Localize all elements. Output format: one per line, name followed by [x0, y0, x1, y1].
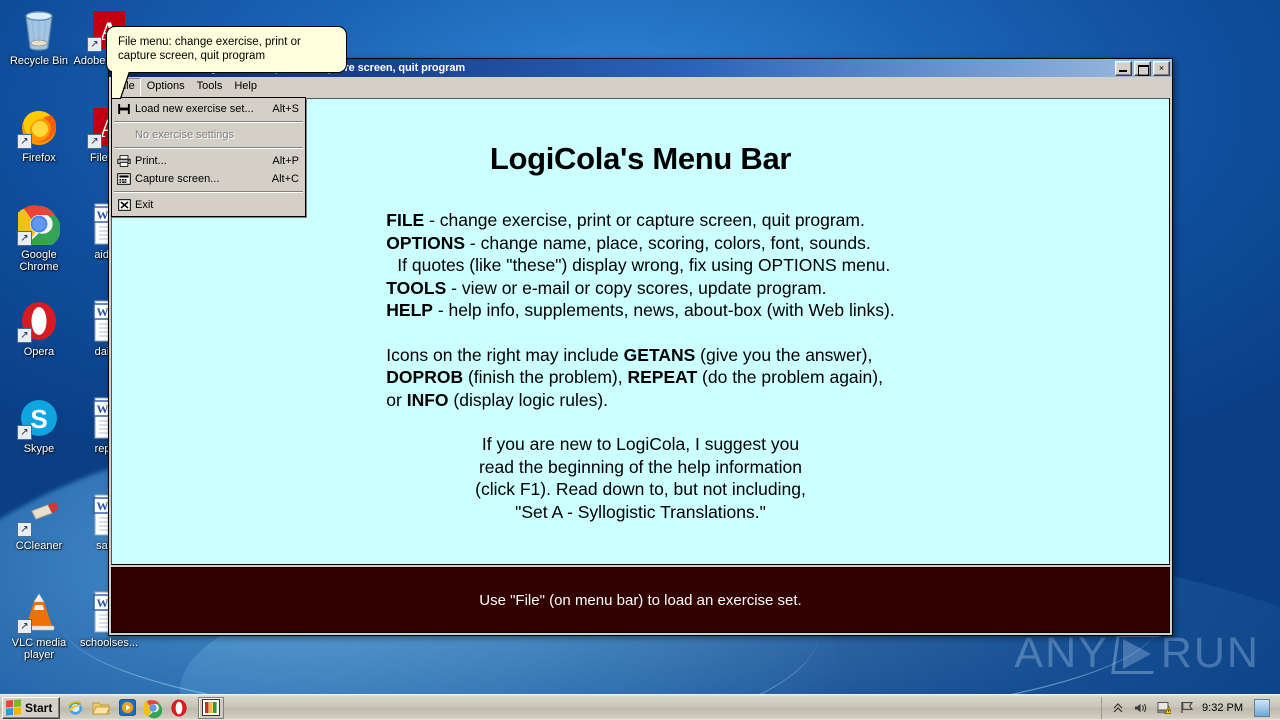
- opera-icon: ↗: [17, 299, 61, 343]
- firefox-icon: ↗: [17, 105, 61, 149]
- menu-item-shortcut: Alt+P: [272, 155, 299, 167]
- icons-text: (do the problem again),: [697, 367, 883, 387]
- menu-item-label: Exit: [135, 199, 299, 211]
- menu-item-exit[interactable]: Exit: [112, 196, 305, 214]
- network-warning-icon[interactable]: [1156, 700, 1172, 716]
- menu-item-shortcut: Alt+S: [272, 103, 299, 115]
- svg-text:W: W: [97, 305, 109, 319]
- taskbar[interactable]: Start 9:32 PM: [0, 694, 1280, 720]
- advice-line: read the beginning of the help informati…: [112, 456, 1169, 479]
- svg-text:W: W: [97, 596, 109, 610]
- menu-item-label: Load new exercise set...: [135, 103, 260, 115]
- action-center-flag-icon[interactable]: [1179, 700, 1195, 716]
- windows-logo-icon: [6, 699, 21, 715]
- shortcut-arrow-icon: ↗: [17, 328, 32, 343]
- vlc-icon: ↗: [17, 590, 61, 634]
- taskbar-button-logicola[interactable]: [198, 697, 224, 719]
- ccleaner-icon: ↗: [17, 493, 61, 537]
- shortcut-arrow-icon: ↗: [17, 619, 32, 634]
- description-text: - help info, supplements, news, about-bo…: [433, 300, 895, 320]
- task-button-area[interactable]: [198, 697, 224, 719]
- exit-icon: [116, 198, 132, 212]
- svg-text:S: S: [30, 404, 47, 434]
- advice-line: If you are new to LogiCola, I suggest yo…: [112, 433, 1169, 456]
- menu-bar[interactable]: FileOptionsToolsHelp: [109, 77, 1172, 96]
- shortcut-arrow-icon: ↗: [87, 37, 102, 52]
- close-button[interactable]: ×: [1153, 61, 1170, 76]
- file-dropdown-menu[interactable]: Load new exercise set...Alt+SNo exercise…: [111, 97, 306, 217]
- skype-icon: S↗: [17, 396, 61, 440]
- icons-text: (display logic rules).: [449, 390, 609, 410]
- menu-item-label: Capture screen...: [135, 173, 260, 185]
- desktop-icon-column-1: Recycle Bin↗Firefox↗Google Chrome↗OperaS…: [2, 4, 76, 683]
- description-line: OPTIONS - change name, place, scoring, c…: [386, 232, 894, 255]
- desktop-icon-label: Skype: [2, 443, 76, 455]
- icons-text: (give you the answer),: [695, 345, 872, 365]
- keyword: FILE: [386, 210, 424, 230]
- description-line: TOOLS - view or e-mail or copy scores, u…: [386, 277, 894, 300]
- desktop-icon-vlc-media-player[interactable]: ↗VLC media player: [2, 586, 76, 683]
- chrome-icon[interactable]: [144, 699, 162, 717]
- status-bar: Use "File" (on menu bar) to load an exer…: [111, 567, 1170, 633]
- watermark-any: ANY: [1014, 629, 1108, 678]
- description-line: FILE - change exercise, print or capture…: [386, 209, 894, 232]
- icons-line: Icons on the right may include GETANS (g…: [386, 344, 894, 367]
- desktop-icon-google-chrome[interactable]: ↗Google Chrome: [2, 198, 76, 295]
- description-line: If quotes (like "these") display wrong, …: [386, 254, 894, 277]
- advice-line: (click F1). Read down to, but not includ…: [112, 478, 1169, 501]
- volume-icon[interactable]: [1133, 700, 1149, 716]
- desktop-icon-ccleaner[interactable]: ↗CCleaner: [2, 489, 76, 586]
- newcomer-advice-block: If you are new to LogiCola, I suggest yo…: [112, 433, 1169, 523]
- desktop-icon-recycle-bin[interactable]: Recycle Bin: [2, 4, 76, 101]
- play-icon: [1114, 634, 1156, 674]
- shortcut-arrow-icon: ↗: [17, 134, 32, 149]
- icons-text: Icons on the right may include: [386, 345, 623, 365]
- svg-text:W: W: [97, 499, 109, 513]
- keyword: OPTIONS: [386, 233, 465, 253]
- menu-options[interactable]: Options: [141, 78, 191, 95]
- desktop-icon-label: Opera: [2, 346, 76, 358]
- paragraph-gap: [386, 322, 894, 344]
- desktop-icon-label: schoolses...: [72, 637, 146, 649]
- file-menu-tooltip: File menu: change exercise, print or cap…: [106, 26, 347, 73]
- shortcut-arrow-icon: ↗: [17, 425, 32, 440]
- icons-text: (finish the problem),: [463, 367, 627, 387]
- desktop-icon-label: Google Chrome: [2, 249, 76, 273]
- desktop-icon-label: CCleaner: [2, 540, 76, 552]
- desktop-icon-label: Firefox: [2, 152, 76, 164]
- start-label: Start: [25, 701, 52, 715]
- menu-separator: [114, 121, 303, 123]
- desktop[interactable]: Recycle Bin↗Firefox↗Google Chrome↗OperaS…: [0, 0, 1280, 720]
- desktop-icon-label: Recycle Bin: [2, 55, 76, 67]
- shortcut-arrow-icon: ↗: [17, 231, 32, 246]
- minimize-button[interactable]: [1115, 61, 1132, 76]
- menu-item-shortcut: Alt+C: [272, 173, 299, 185]
- show-desktop-button[interactable]: [1254, 699, 1270, 717]
- menu-separator: [114, 147, 303, 149]
- description-text: - change name, place, scoring, colors, f…: [465, 233, 871, 253]
- keyword: HELP: [386, 300, 433, 320]
- internet-explorer-icon[interactable]: [66, 699, 84, 717]
- clock[interactable]: 9:32 PM: [1202, 702, 1243, 714]
- keyword: INFO: [407, 390, 449, 410]
- system-tray[interactable]: 9:32 PM: [1101, 697, 1276, 719]
- menu-item-load-new-exercise-set[interactable]: Load new exercise set...Alt+S: [112, 100, 305, 118]
- advice-line: "Set A - Syllogistic Translations.": [112, 501, 1169, 524]
- media-player-icon[interactable]: [118, 699, 136, 717]
- capture-screen-icon: [116, 172, 132, 186]
- opera-icon[interactable]: [170, 699, 188, 717]
- keyword: TOOLS: [386, 278, 446, 298]
- menu-item-label: No exercise settings: [135, 129, 299, 141]
- chrome-icon: ↗: [17, 202, 61, 246]
- desktop-icon-skype[interactable]: S↗Skype: [2, 392, 76, 489]
- menu-help[interactable]: Help: [228, 78, 263, 95]
- desktop-icon-label: VLC media player: [2, 637, 76, 661]
- icons-line: DOPROB (finish the problem), REPEAT (do …: [386, 366, 894, 389]
- description-text: If quotes (like "these") display wrong, …: [397, 255, 890, 275]
- shortcut-arrow-icon: ↗: [17, 522, 32, 537]
- menu-item-capture-screen[interactable]: Capture screen...Alt+C: [112, 170, 305, 188]
- icons-line: or INFO (display logic rules).: [386, 389, 894, 412]
- anyrun-watermark: ANY RUN: [1014, 629, 1260, 678]
- maximize-button[interactable]: [1134, 61, 1151, 76]
- svg-text:W: W: [97, 402, 109, 416]
- description-text: - view or e-mail or copy scores, update …: [446, 278, 826, 298]
- menu-item-no-exercise-settings: No exercise settings: [112, 126, 305, 144]
- windows-explorer-icon[interactable]: [92, 699, 110, 717]
- menu-item-print[interactable]: Print...Alt+P: [112, 152, 305, 170]
- menu-separator: [114, 191, 303, 193]
- menu-tools[interactable]: Tools: [191, 78, 229, 95]
- start-button[interactable]: Start: [2, 697, 60, 719]
- tooltip-text: File menu: change exercise, print or cap…: [118, 36, 301, 62]
- show-hidden-icons-icon[interactable]: [1110, 700, 1126, 716]
- quick-launch-bar[interactable]: [66, 699, 188, 717]
- shortcut-arrow-icon: ↗: [87, 134, 102, 149]
- desktop-icon-opera[interactable]: ↗Opera: [2, 295, 76, 392]
- menu-description-block: FILE - change exercise, print or capture…: [386, 209, 894, 411]
- menu-item-no-icon: [116, 128, 132, 142]
- desktop-icon-firefox[interactable]: ↗Firefox: [2, 101, 76, 198]
- printer-icon: [116, 154, 132, 168]
- keyword: REPEAT: [627, 367, 697, 387]
- menu-item-label: Print...: [135, 155, 260, 167]
- load-exercise-icon: [116, 102, 132, 116]
- keyword: DOPROB: [386, 367, 463, 387]
- keyword: GETANS: [624, 345, 696, 365]
- description-text: - change exercise, print or capture scre…: [424, 210, 865, 230]
- svg-text:W: W: [97, 208, 109, 222]
- tooltip-tail: [112, 71, 129, 98]
- watermark-run: RUN: [1161, 629, 1260, 678]
- description-line: HELP - help info, supplements, news, abo…: [386, 299, 894, 322]
- icons-text: or: [386, 390, 406, 410]
- recycle-bin-icon: [17, 8, 61, 52]
